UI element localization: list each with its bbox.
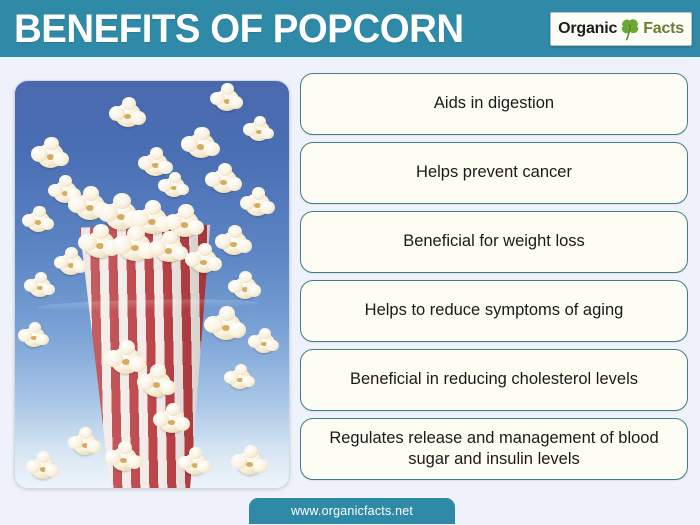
benefit-item[interactable]: Beneficial in reducing cholesterol level… bbox=[300, 349, 688, 411]
logo-word-facts: Facts bbox=[643, 21, 684, 37]
popcorn-kernel bbox=[237, 451, 263, 475]
popcorn-kernel bbox=[23, 327, 45, 347]
popcorn-kernel bbox=[29, 277, 51, 297]
popcorn-kernel bbox=[31, 457, 55, 479]
popcorn-kernel bbox=[253, 333, 275, 353]
page-title: BENEFITS OF POPCORN bbox=[14, 9, 464, 49]
popcorn-kernel bbox=[248, 121, 270, 141]
popcorn-kernel bbox=[143, 153, 168, 176]
benefit-item[interactable]: Beneficial for weight loss bbox=[300, 211, 688, 273]
popcorn-kernel bbox=[191, 249, 217, 273]
popcorn-kernel bbox=[155, 237, 183, 262]
popcorn-kernel bbox=[85, 231, 115, 258]
popcorn-kernel bbox=[27, 211, 50, 232]
popcorn-kernel bbox=[183, 453, 207, 475]
popcorn-photo bbox=[14, 80, 290, 489]
popcorn-kernel bbox=[115, 103, 141, 127]
popcorn-kernel bbox=[245, 193, 270, 216]
website-url-text: www.organicfacts.net bbox=[291, 504, 413, 518]
popcorn-kernel bbox=[37, 143, 64, 168]
popcorn-kernel bbox=[119, 233, 151, 261]
benefit-item[interactable]: Regulates release and management of bloo… bbox=[300, 418, 688, 480]
popcorn-kernel bbox=[215, 89, 239, 111]
popcorn-kernel bbox=[211, 313, 241, 340]
benefit-item[interactable]: Helps prevent cancer bbox=[300, 142, 688, 204]
benefit-item[interactable]: Aids in digestion bbox=[300, 73, 688, 135]
benefit-item[interactable]: Helps to reduce symptoms of aging bbox=[300, 280, 688, 342]
clover-icon bbox=[619, 16, 641, 42]
popcorn-kernel bbox=[159, 409, 185, 433]
popcorn-kernel bbox=[111, 447, 137, 471]
popcorn-kernel bbox=[73, 433, 97, 455]
popcorn-kernel bbox=[229, 369, 251, 389]
website-url-badge[interactable]: www.organicfacts.net bbox=[249, 498, 455, 524]
logo-word-organic: Organic bbox=[558, 21, 617, 37]
popcorn-kernel bbox=[59, 253, 83, 275]
popcorn-kernel bbox=[221, 231, 247, 255]
popcorn-kernel bbox=[163, 177, 185, 197]
popcorn-kernel bbox=[187, 133, 215, 158]
benefits-list: Aids in digestion Helps prevent cancer B… bbox=[300, 73, 688, 480]
organic-facts-logo[interactable]: Organic Facts bbox=[550, 12, 692, 46]
popcorn-kernel bbox=[111, 347, 141, 374]
popcorn-kernel bbox=[211, 169, 237, 193]
page-header: BENEFITS OF POPCORN Organic Facts bbox=[0, 0, 700, 57]
popcorn-kernel bbox=[143, 371, 171, 397]
popcorn-kernel bbox=[233, 277, 257, 299]
